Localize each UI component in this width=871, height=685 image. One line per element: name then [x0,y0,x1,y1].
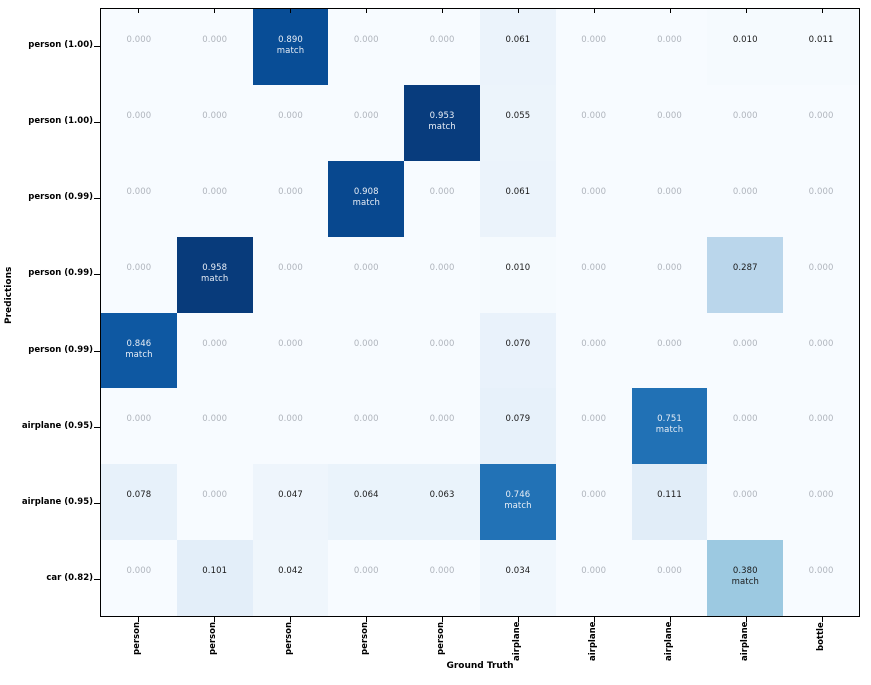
cell-value: 0.000 [202,187,227,198]
x-tick-mark-top [290,8,291,13]
heatmap-cell: 0.000 [404,313,480,389]
x-tick-mark [214,617,215,622]
cell-value: 0.000 [733,414,758,425]
heatmap-cell: 0.000 [783,237,859,313]
heatmap-cell: 0.101 [177,540,253,616]
x-tick-mark-top [594,8,595,13]
heatmap-cell: 0.000 [707,388,783,464]
heatmap-cell: 0.042 [253,540,329,616]
cell-value: 0.034 [505,566,530,577]
y-tick-mark [94,46,100,47]
heatmap-cell: 0.000 [328,540,404,616]
heatmap-cell: 0.000 [101,9,177,85]
heatmap-cell: 0.958match [177,237,253,313]
heatmap-cell: 0.000 [177,85,253,161]
x-tick-mark-top [366,8,367,13]
heatmap-cell: 0.000 [783,161,859,237]
cell-match-tag: match [277,46,304,57]
x-tick-label: airplane [740,622,752,668]
cell-value: 0.000 [733,339,758,350]
cell-value: 0.111 [657,490,682,501]
cell-value: 0.000 [657,339,682,350]
heatmap-cell: 0.908match [328,161,404,237]
x-tick-mark [518,617,519,622]
cell-value: 0.000 [354,111,379,122]
cell-match-tag: match [504,501,531,512]
heatmap-cell: 0.010 [707,9,783,85]
cell-value: 0.000 [657,187,682,198]
cell-value: 0.000 [657,35,682,46]
heatmap-cell: 0.078 [101,464,177,540]
cell-value: 0.055 [505,111,530,122]
x-tick-mark [442,617,443,622]
heatmap-cell: 0.000 [253,388,329,464]
cell-value: 0.000 [202,35,227,46]
heatmap-cell: 0.000 [101,161,177,237]
cell-value: 0.953 [430,111,455,122]
y-tick-mark [94,198,100,199]
cell-match-tag: match [732,577,759,588]
cell-value: 0.010 [733,35,758,46]
cell-value: 0.000 [809,566,834,577]
heatmap-cell: 0.000 [328,9,404,85]
heatmap-cell: 0.000 [177,161,253,237]
cell-value: 0.000 [278,263,303,274]
cell-value: 0.000 [430,35,455,46]
cell-value: 0.079 [505,414,530,425]
heatmap-cell: 0.000 [632,85,708,161]
cell-value: 0.000 [657,111,682,122]
y-tick-label: person (1.00) [0,40,93,50]
x-tick-mark [746,617,747,622]
x-tick-mark-top [746,8,747,13]
y-tick-mark [94,427,100,428]
cell-value: 0.047 [278,490,303,501]
heatmap-cell: 0.846match [101,313,177,389]
heatmap-cell: 0.380match [707,540,783,616]
x-tick-mark-top [822,8,823,13]
y-tick-label: person (0.99) [0,192,93,202]
heatmap-cell: 0.751match [632,388,708,464]
cell-value: 0.000 [581,35,606,46]
y-tick-mark [94,122,100,123]
x-tick-mark [138,617,139,622]
x-tick-mark [366,617,367,622]
y-tick-label: airplane (0.95) [0,497,93,507]
heatmap-cell: 0.000 [253,161,329,237]
cell-value: 0.000 [126,111,151,122]
heatmap-cell: 0.011 [783,9,859,85]
cell-value: 0.000 [202,414,227,425]
x-tick-label: person [360,622,372,668]
cell-value: 0.000 [430,339,455,350]
cell-value: 0.011 [809,35,834,46]
heatmap-cell: 0.000 [556,85,632,161]
x-tick-mark-top [670,8,671,13]
cell-value: 0.000 [354,566,379,577]
cell-match-tag: match [428,122,455,133]
x-tick-mark [290,617,291,622]
heatmap-cell: 0.746match [480,464,556,540]
cell-value: 0.010 [505,263,530,274]
cell-value: 0.070 [505,339,530,350]
y-tick-label: airplane (0.95) [0,421,93,431]
cell-value: 0.000 [581,263,606,274]
cell-value: 0.908 [354,187,379,198]
y-axis-title: Predictions [4,310,14,324]
heatmap-cell: 0.890match [253,9,329,85]
heatmap-cell: 0.010 [480,237,556,313]
cell-value: 0.000 [733,111,758,122]
y-tick-mark [94,351,100,352]
cell-value: 0.000 [278,414,303,425]
cell-value: 0.000 [657,566,682,577]
heatmap-cell: 0.000 [253,313,329,389]
heatmap-cell: 0.000 [177,464,253,540]
heatmap-cell: 0.000 [177,388,253,464]
heatmap-cell: 0.000 [556,464,632,540]
heatmap-plot-area: 0.0000.0000.890match0.0000.0000.0610.000… [100,8,860,617]
heatmap-cell: 0.000 [783,464,859,540]
heatmap-cell: 0.000 [556,388,632,464]
cell-value: 0.380 [733,566,758,577]
cell-value: 0.078 [126,490,151,501]
cell-value: 0.751 [657,414,682,425]
confusion-matrix-figure: Predictions Ground Truth 0.0000.0000.890… [0,0,871,685]
cell-value: 0.000 [278,339,303,350]
cell-value: 0.000 [809,490,834,501]
heatmap-cell: 0.034 [480,540,556,616]
cell-value: 0.000 [581,490,606,501]
y-tick-label: person (1.00) [0,116,93,126]
x-tick-label: bottle [816,622,828,668]
heatmap-cell: 0.000 [632,161,708,237]
heatmap-cell: 0.287 [707,237,783,313]
cell-value: 0.000 [430,414,455,425]
heatmap-cell: 0.000 [556,540,632,616]
heatmap-cell: 0.000 [177,9,253,85]
heatmap-cell: 0.000 [556,313,632,389]
cell-value: 0.000 [430,566,455,577]
heatmap-cell: 0.000 [783,85,859,161]
cell-value: 0.042 [278,566,303,577]
heatmap-cell: 0.079 [480,388,556,464]
heatmap-cell: 0.000 [707,161,783,237]
cell-value: 0.000 [809,187,834,198]
cell-match-tag: match [125,350,152,361]
heatmap-cell: 0.000 [101,540,177,616]
cell-value: 0.061 [505,35,530,46]
cell-match-tag: match [353,198,380,209]
heatmap-cell: 0.000 [253,237,329,313]
cell-value: 0.000 [202,111,227,122]
heatmap-cell: 0.061 [480,9,556,85]
cell-value: 0.000 [733,187,758,198]
x-tick-mark-top [138,8,139,13]
heatmap-cell: 0.000 [101,237,177,313]
heatmap-cell: 0.000 [707,464,783,540]
cell-value: 0.000 [354,35,379,46]
heatmap-cell: 0.000 [556,161,632,237]
heatmap-cell: 0.000 [632,313,708,389]
heatmap-cell: 0.000 [783,388,859,464]
cell-match-tag: match [201,274,228,285]
x-tick-mark [594,617,595,622]
heatmap-cell: 0.000 [101,388,177,464]
cell-value: 0.958 [202,263,227,274]
heatmap-cell: 0.000 [707,313,783,389]
x-tick-mark [822,617,823,622]
cell-value: 0.063 [430,490,455,501]
cell-value: 0.000 [354,339,379,350]
heatmap-cell: 0.000 [328,313,404,389]
cell-value: 0.000 [126,566,151,577]
cell-value: 0.846 [126,339,151,350]
cell-value: 0.000 [657,263,682,274]
heatmap-cell: 0.070 [480,313,556,389]
heatmap-cell: 0.000 [177,313,253,389]
cell-value: 0.000 [126,414,151,425]
cell-value: 0.746 [505,490,530,501]
cell-value: 0.000 [278,187,303,198]
cell-value: 0.000 [809,111,834,122]
heatmap-cell: 0.000 [556,237,632,313]
heatmap-cell: 0.000 [783,540,859,616]
cell-value: 0.000 [202,490,227,501]
x-tick-label: airplane [664,622,676,668]
x-tick-label: airplane [588,622,600,668]
x-tick-label: person [284,622,296,668]
heatmap-cell: 0.061 [480,161,556,237]
heatmap-cell: 0.000 [632,540,708,616]
heatmap-cell: 0.055 [480,85,556,161]
heatmap-cell: 0.000 [328,237,404,313]
cell-value: 0.000 [278,111,303,122]
cell-value: 0.890 [278,35,303,46]
cell-value: 0.000 [733,490,758,501]
cell-value: 0.064 [354,490,379,501]
heatmap-cell: 0.064 [328,464,404,540]
heatmap-cell: 0.000 [328,388,404,464]
heatmap-cell: 0.953match [404,85,480,161]
cell-match-tag: match [656,425,683,436]
x-tick-mark-top [518,8,519,13]
heatmap-cell: 0.000 [783,313,859,389]
x-tick-mark [670,617,671,622]
y-tick-mark [94,579,100,580]
heatmap-cell: 0.000 [404,161,480,237]
heatmap-cell: 0.000 [404,9,480,85]
cell-value: 0.000 [809,263,834,274]
cell-value: 0.000 [809,339,834,350]
heatmap-cell: 0.000 [404,388,480,464]
cell-value: 0.000 [581,566,606,577]
cell-value: 0.000 [430,187,455,198]
x-tick-mark-top [442,8,443,13]
cell-value: 0.000 [581,414,606,425]
heatmap-cell: 0.000 [404,540,480,616]
heatmap-cell: 0.000 [556,9,632,85]
cell-value: 0.000 [430,263,455,274]
heatmap-cell: 0.111 [632,464,708,540]
heatmap-cell: 0.063 [404,464,480,540]
x-tick-label: person [436,622,448,668]
cell-value: 0.101 [202,566,227,577]
x-tick-label: airplane [512,622,524,668]
heatmap-cell: 0.000 [707,85,783,161]
x-tick-label: person [208,622,220,668]
heatmap-cell: 0.000 [101,85,177,161]
y-tick-label: person (0.99) [0,268,93,278]
cell-value: 0.000 [126,263,151,274]
cell-value: 0.000 [202,339,227,350]
cell-value: 0.000 [809,414,834,425]
y-tick-label: person (0.99) [0,345,93,355]
cell-value: 0.287 [733,263,758,274]
cell-value: 0.000 [126,187,151,198]
cell-value: 0.061 [505,187,530,198]
y-tick-mark [94,274,100,275]
heatmap-grid: 0.0000.0000.890match0.0000.0000.0610.000… [101,9,859,616]
cell-value: 0.000 [354,263,379,274]
heatmap-cell: 0.047 [253,464,329,540]
cell-value: 0.000 [581,339,606,350]
heatmap-cell: 0.000 [253,85,329,161]
y-tick-label: car (0.82) [0,573,93,583]
cell-value: 0.000 [354,414,379,425]
x-tick-mark-top [214,8,215,13]
y-tick-mark [94,503,100,504]
cell-value: 0.000 [581,187,606,198]
x-tick-label: person [132,622,144,668]
heatmap-cell: 0.000 [328,85,404,161]
cell-value: 0.000 [126,35,151,46]
cell-value: 0.000 [581,111,606,122]
heatmap-cell: 0.000 [404,237,480,313]
heatmap-cell: 0.000 [632,237,708,313]
heatmap-cell: 0.000 [632,9,708,85]
